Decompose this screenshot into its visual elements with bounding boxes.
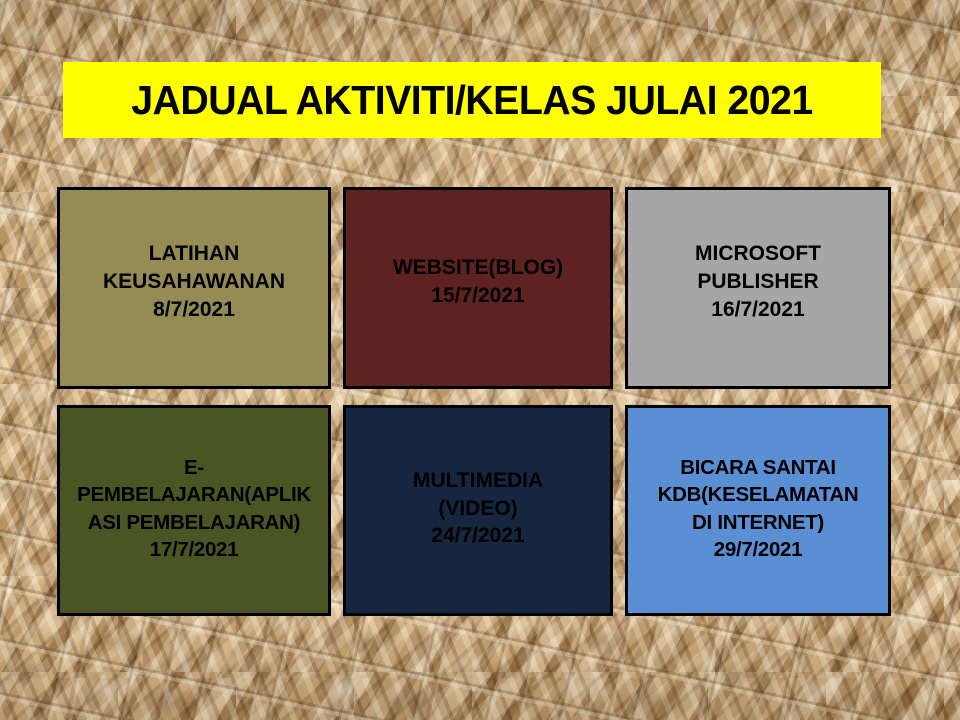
title-banner: JADUAL AKTIVITI/KELAS JULAI 2021 — [63, 62, 881, 138]
activity-card-text: E- PEMBELAJARAN(APLIK ASI PEMBELAJARAN) … — [64, 454, 324, 562]
activity-card-bicara-santai-kdb[interactable]: BICARA SANTAI KDB(KESELAMATAN DI INTERNE… — [625, 405, 891, 616]
activity-card-text: MICROSOFT PUBLISHER 16/7/2021 — [632, 240, 884, 323]
activity-card-grid: LATIHAN KEUSAHAWANAN 8/7/2021 WEBSITE(BL… — [57, 187, 891, 616]
activity-card-microsoft-publisher[interactable]: MICROSOFT PUBLISHER 16/7/2021 — [625, 187, 891, 389]
slide-title: JADUAL AKTIVITI/KELAS JULAI 2021 — [131, 80, 812, 121]
activity-card-e-pembelajaran[interactable]: E- PEMBELAJARAN(APLIK ASI PEMBELAJARAN) … — [57, 405, 331, 616]
activity-card-text: MULTIMEDIA (VIDEO) 24/7/2021 — [350, 467, 606, 550]
activity-card-text: LATIHAN KEUSAHAWANAN 8/7/2021 — [64, 240, 324, 323]
activity-card-text: WEBSITE(BLOG) 15/7/2021 — [350, 254, 606, 309]
slide-canvas: JADUAL AKTIVITI/KELAS JULAI 2021 LATIHAN… — [0, 0, 960, 720]
activity-card-website-blog[interactable]: WEBSITE(BLOG) 15/7/2021 — [343, 187, 613, 389]
activity-card-latihan-keusahawanan[interactable]: LATIHAN KEUSAHAWANAN 8/7/2021 — [57, 187, 331, 389]
activity-card-text: BICARA SANTAI KDB(KESELAMATAN DI INTERNE… — [632, 454, 884, 562]
activity-card-multimedia-video[interactable]: MULTIMEDIA (VIDEO) 24/7/2021 — [343, 405, 613, 616]
